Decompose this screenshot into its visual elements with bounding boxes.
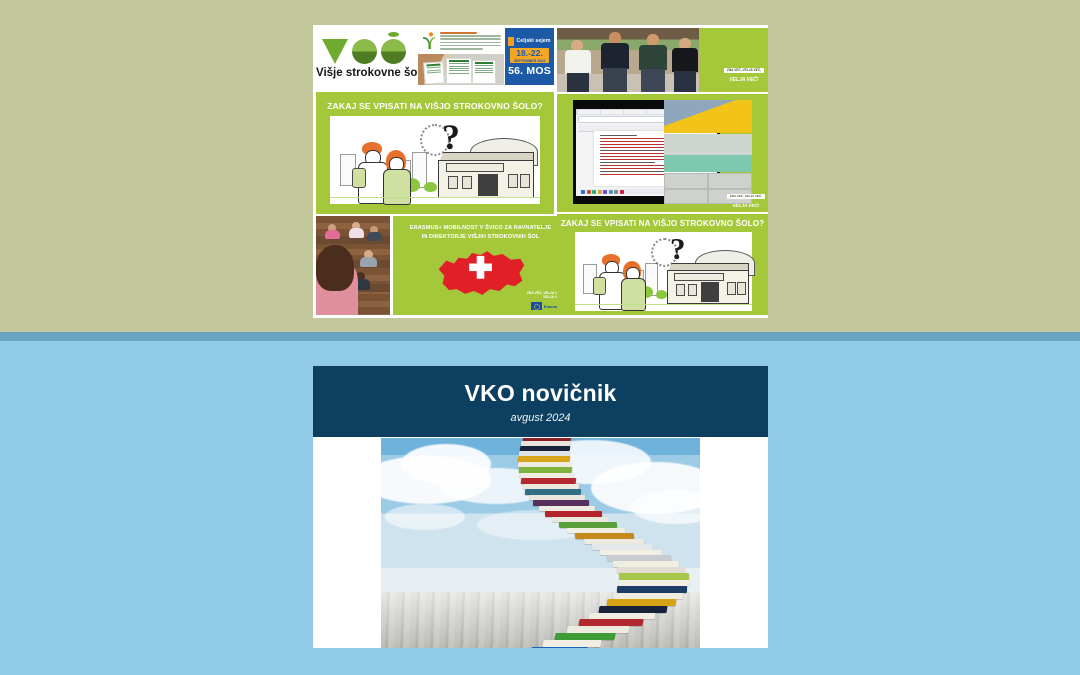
newsletter-subtitle: avgust 2024 [511, 412, 571, 424]
fair-dates-value: 18.-22. [516, 48, 542, 58]
cartoon-students-illustration-1: ? [330, 116, 540, 204]
certificates-photo [418, 54, 504, 85]
leaf-icon [422, 32, 436, 50]
flag-icon [508, 37, 514, 46]
fair-organizer-label: Celjski sejem [516, 38, 550, 44]
newsletter-title: VKO novičnik [465, 380, 617, 407]
people-tagline: ZNA VEČ, VELJA VEČ, VELJA VEČ! [724, 58, 764, 83]
lecture-hall-photo [316, 216, 390, 315]
panel-why-enroll-1: ZAKAJ SE VPISATI NA VIŠJO STROKOVNO ŠOLO… [316, 92, 554, 214]
eu-flag-icon [531, 302, 542, 310]
switzerland-map-icon [433, 244, 528, 302]
erasmus-heading-line2: IN DIREKTORJE VIŠJIH STROKOVNIH ŠOL [422, 234, 540, 240]
certificate-text-lines [440, 32, 501, 51]
panel-video-meeting: ZNA VEČ, VELJA VEČ, VELJA VEČ! [557, 94, 768, 212]
collage-card: Višje strokovne šole [313, 25, 768, 318]
people-photo [557, 28, 699, 92]
books-staircase-image [381, 438, 700, 648]
fair-dates-sub: SEPTEMBER 2024 [514, 59, 545, 63]
erasmus-heading-line1: ERASMUS+ MOBILNOST V ŠVICO ZA RAVNATELJE [410, 225, 551, 231]
mos-fair-badge: Celjski sejem 18.-22. SEPTEMBER 2024 56.… [505, 28, 554, 85]
screenshot-stage: Višje strokovne šole [0, 0, 1080, 675]
panel-why-enroll-1-heading: ZAKAJ SE VPISATI NA VIŠJO STROKOVNO ŠOLO… [316, 92, 554, 111]
logo-marks [322, 39, 427, 64]
background-band-divider [0, 332, 1080, 341]
logo-triangle-icon [322, 39, 348, 64]
video-tagline-line2: VELJA VEČ! [727, 203, 765, 208]
newsletter-banner: VKO novičnik avgust 2024 [313, 366, 768, 437]
people-tagline-line1: ZNA VEČ, VELJA VEČ, [724, 68, 764, 73]
fair-dates-label: 18.-22. SEPTEMBER 2024 [510, 48, 549, 63]
video-tagline-line1: ZNA VEČ, VELJA VEČ, [727, 194, 765, 199]
people-tagline-line2: VELJA VEČ! [724, 77, 764, 83]
logo-circle-dot-icon [381, 39, 406, 64]
logo-circle-icon [352, 39, 377, 64]
panel-erasmus-switzerland: ERASMUS+ MOBILNOST V ŠVICO ZA RAVNATELJE… [393, 216, 568, 315]
logo-wordmark: Višje strokovne šole [316, 67, 427, 79]
panel-why-enroll-2: ZAKAJ SE VPISATI NA VIŠJO STROKOVNO ŠOLO… [557, 214, 768, 315]
panel-people-photo: ZNA VEČ, VELJA VEČ, VELJA VEČ! [557, 28, 768, 92]
panel-why-enroll-2-heading: ZAKAJ SE VPISATI NA VIŠJO STROKOVNO ŠOLO… [557, 214, 768, 228]
certificates-photo-tile [418, 28, 504, 85]
video-tagline: ZNA VEČ, VELJA VEČ, VELJA VEČ! [727, 184, 765, 208]
newsletter-card: VKO novičnik avgust 2024 [313, 366, 768, 648]
cartoon-students-illustration-2: ? [575, 232, 752, 311]
fair-event-label: 56. MOS [508, 65, 551, 77]
